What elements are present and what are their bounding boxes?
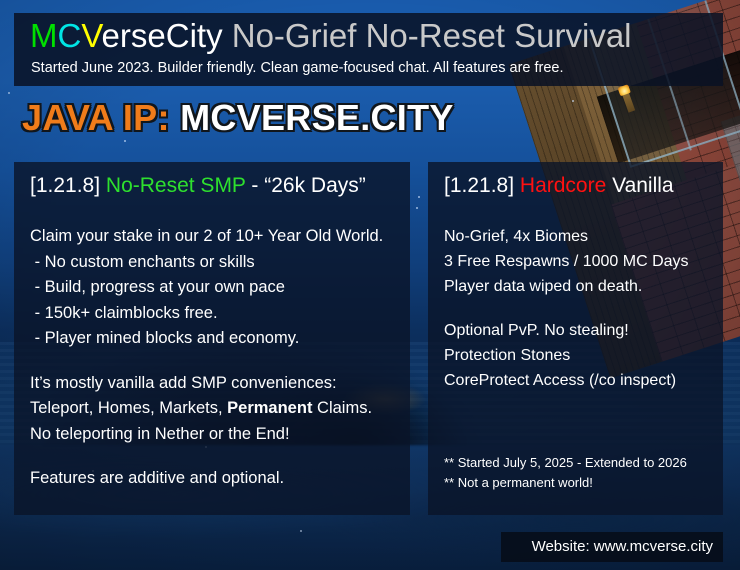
card-title-tail: - “26k Days”	[251, 174, 365, 197]
card-title-highlight: No-Reset SMP	[106, 174, 246, 197]
card-title-tail: Vanilla	[612, 174, 673, 197]
card-line: CoreProtect Access (/co inspect)	[444, 368, 713, 393]
card-title-hardcore-vanilla: [1.21.8] Hardcore Vanilla	[444, 172, 674, 200]
card-line: No-Grief, 4x Biomes	[444, 224, 713, 249]
card-spacer	[444, 299, 713, 318]
card-line-emphasis: Permanent	[227, 399, 312, 417]
card-line: - Player mined blocks and economy.	[30, 326, 400, 352]
card-line: It’s mostly vanilla add SMP conveniences…	[30, 371, 400, 397]
java-ip-label: JAVA IP:	[22, 97, 170, 138]
server-banner: MCVerseCity No-Grief No-Reset Survival S…	[0, 0, 740, 570]
card-line: 3 Free Respawns / 1000 MC Days	[444, 249, 713, 274]
header-box: MCVerseCity No-Grief No-Reset Survival S…	[14, 13, 723, 86]
card-version-badge: [1.21.8]	[30, 174, 100, 197]
card-hardcore-vanilla: [1.21.8] Hardcore Vanilla No-Grief, 4x B…	[428, 162, 723, 515]
card-spacer	[30, 447, 400, 466]
header-subtitle: Started June 2023. Builder friendly. Cle…	[31, 59, 564, 77]
card-line: - 150k+ claimblocks free.	[30, 301, 400, 327]
card-no-reset-smp: [1.21.8] No-Reset SMP - “26k Days” Claim…	[14, 162, 410, 515]
card-body-hardcore-vanilla: No-Grief, 4x Biomes 3 Free Respawns / 10…	[444, 224, 713, 393]
page-title: MCVerseCity No-Grief No-Reset Survival	[30, 16, 632, 56]
card-version-badge: [1.21.8]	[444, 174, 514, 197]
card-line: Player data wiped on death.	[444, 274, 713, 299]
card-footnotes: ** Started July 5, 2025 - Extended to 20…	[444, 453, 687, 493]
card-footnote: ** Started July 5, 2025 - Extended to 20…	[444, 453, 687, 473]
java-ip-address[interactable]: MCVERSE.CITY	[180, 97, 454, 138]
card-line: - Build, progress at your own pace	[30, 275, 400, 301]
card-line-with-bold: Teleport, Homes, Markets, Permanent Clai…	[30, 396, 400, 422]
card-line: Features are additive and optional.	[30, 466, 400, 492]
brand-letter-v: V	[81, 17, 101, 54]
website-box: Website: www.mcverse.city	[501, 532, 723, 562]
java-ip-line: JAVA IP: MCVERSE.CITY	[22, 96, 454, 140]
brand-letter-m: M	[30, 17, 58, 54]
card-line: No teleporting in Nether or the End!	[30, 422, 400, 448]
brand-name-rest: erseCity	[102, 17, 223, 54]
card-line: - No custom enchants or skills	[30, 250, 400, 276]
brand-letter-c: C	[58, 17, 82, 54]
card-spacer	[30, 352, 400, 371]
card-title-no-reset-smp: [1.21.8] No-Reset SMP - “26k Days”	[30, 172, 366, 200]
header-tagline: No-Grief No-Reset Survival	[223, 17, 632, 54]
website-link[interactable]: Website: www.mcverse.city	[501, 537, 713, 557]
card-line: Protection Stones	[444, 343, 713, 368]
card-line: Claim your stake in our 2 of 10+ Year Ol…	[30, 224, 400, 250]
card-footnote: ** Not a permanent world!	[444, 473, 687, 493]
card-title-highlight: Hardcore	[520, 174, 606, 197]
card-body-no-reset-smp: Claim your stake in our 2 of 10+ Year Ol…	[30, 224, 400, 492]
card-line: Optional PvP. No stealing!	[444, 318, 713, 343]
